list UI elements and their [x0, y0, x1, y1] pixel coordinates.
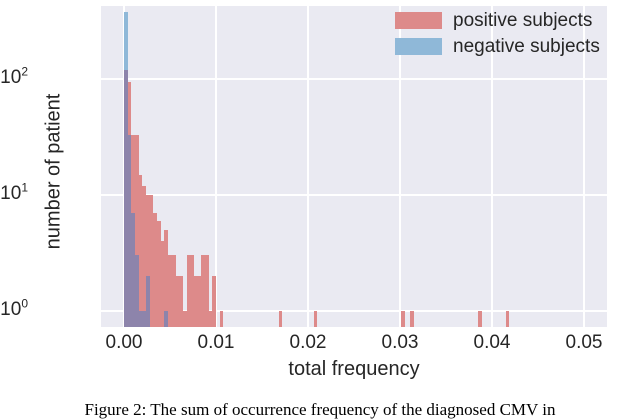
x-tick-label-2: 0.02	[263, 332, 353, 354]
y-tick-label-0: 102	[0, 68, 28, 88]
y-tick-label-1: 101	[0, 184, 28, 204]
histogram-bar-positive	[410, 311, 414, 327]
legend: positive subjectsnegative subjects	[395, 10, 600, 57]
legend-swatch-icon	[395, 12, 442, 29]
x-axis-label: total frequency	[101, 358, 607, 381]
histogram-bar-positive	[478, 311, 482, 327]
x-tick-label-1: 0.01	[171, 332, 261, 354]
figure-container: 0.000.010.020.030.040.05 102101100 total…	[0, 0, 640, 418]
x-tick-label-3: 0.03	[355, 332, 445, 354]
histogram-bar-negative	[146, 276, 150, 327]
legend-swatch-icon	[395, 38, 442, 55]
x-tick-label-0: 0.00	[79, 332, 169, 354]
histogram-bar-positive	[506, 311, 510, 327]
legend-label: negative subjects	[453, 36, 600, 58]
histogram-bar-positive	[212, 276, 216, 327]
histogram-bar-negative-peak	[124, 12, 128, 70]
legend-entry-1: negative subjects	[395, 36, 600, 57]
y-axis-label: number of patient	[43, 22, 66, 322]
y-tick-label-2: 100	[0, 300, 28, 320]
legend-label: positive subjects	[453, 10, 592, 32]
histogram-bar-positive	[279, 311, 283, 327]
histogram-bar-positive	[314, 311, 318, 327]
histogram-bar-positive	[401, 311, 405, 327]
histogram-bar-negative	[164, 311, 168, 327]
figure-caption: Figure 2: The sum of occurrence frequenc…	[0, 400, 640, 420]
legend-entry-0: positive subjects	[395, 10, 600, 31]
histogram-bar-positive	[220, 311, 224, 327]
x-tick-label-4: 0.04	[447, 332, 537, 354]
x-tick-label-5: 0.05	[539, 332, 629, 354]
